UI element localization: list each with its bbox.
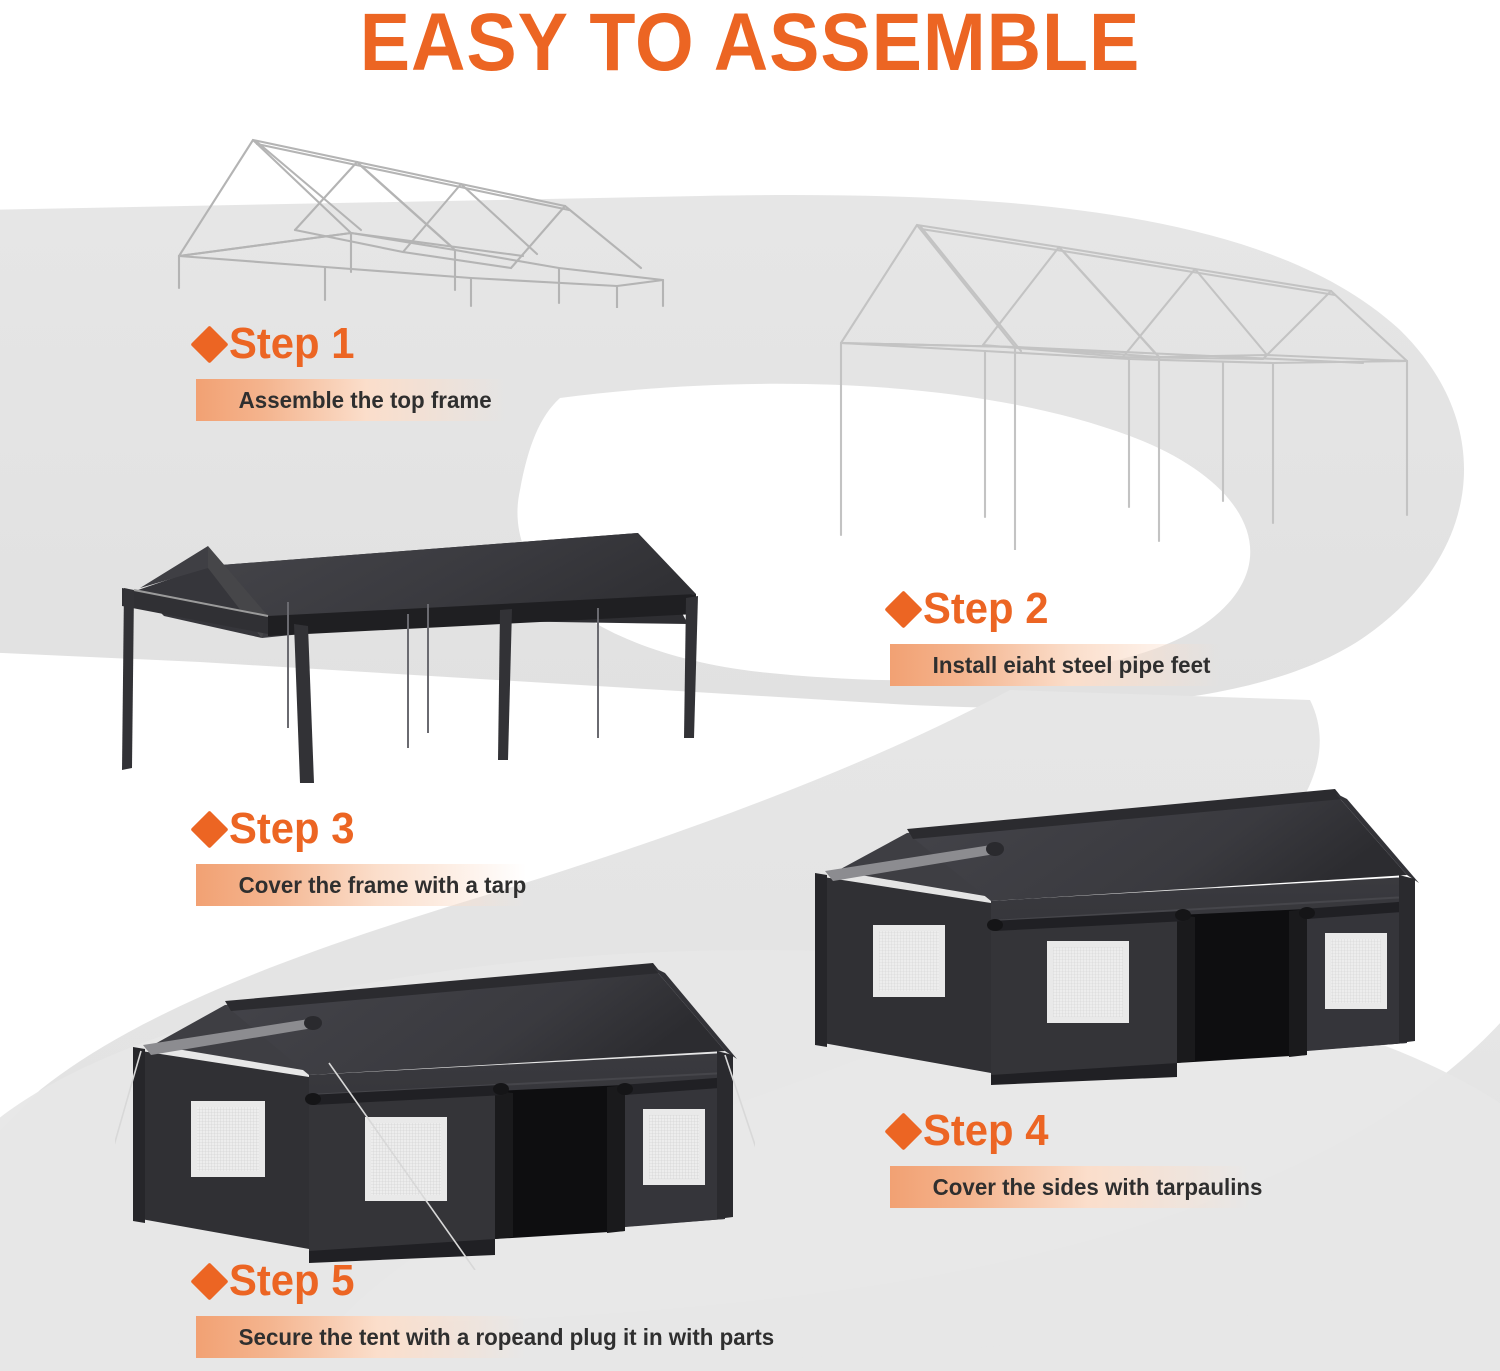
step-5-description-row: Secure the tent with a ropeand plug it i… xyxy=(196,1316,792,1358)
garage2-window-mesh-left xyxy=(197,1107,259,1171)
garage-window-mesh-front-2 xyxy=(1331,939,1381,1003)
diamond-bullet-icon xyxy=(884,1112,922,1150)
carport-canopy-icon xyxy=(108,438,738,788)
garage2-door-opening xyxy=(495,1085,625,1239)
canopy-leg-1 xyxy=(122,588,134,770)
infographic-page: EASY TO ASSEMBLE xyxy=(0,0,1500,1371)
garage-door-opening xyxy=(1177,909,1307,1063)
step-3-title: Step 3 xyxy=(229,807,354,851)
step-5-title: Step 5 xyxy=(229,1259,354,1303)
enclosed-garage-with-rope-icon xyxy=(115,905,755,1270)
step-1-block: Step 1 Assemble the top frame xyxy=(196,318,501,421)
garage2-window-mesh-front-2 xyxy=(649,1115,699,1179)
garage-corner-right xyxy=(1399,875,1415,1043)
step-1-description-row: Assemble the top frame xyxy=(196,379,501,421)
garage2-door-jamb-left xyxy=(495,1091,513,1239)
garage-door-bar-cap-l1 xyxy=(987,919,1003,931)
step-1-heading: Step 1 xyxy=(196,318,501,370)
step-4-description: Cover the sides with tarpaulins xyxy=(890,1174,1262,1201)
roof-frame-line-drawing-icon xyxy=(165,128,765,308)
step-4-description-row: Cover the sides with tarpaulins xyxy=(890,1166,1274,1208)
step-3-description: Cover the frame with a tarp xyxy=(196,872,526,899)
step-5-heading: Step 5 xyxy=(196,1255,792,1307)
step-2-description-row: Install eiaht steel pipe feet xyxy=(890,644,1220,686)
full-frame-with-legs-line-drawing-icon xyxy=(815,205,1455,550)
garage2-window-mesh-front-1 xyxy=(371,1123,441,1195)
diamond-bullet-icon xyxy=(190,325,228,363)
garage2-door-bar-cap-l2 xyxy=(493,1083,509,1095)
garage-door-bar-cap-l2 xyxy=(1175,909,1191,921)
step-3-heading: Step 3 xyxy=(196,803,537,855)
step-3-description-row: Cover the frame with a tarp xyxy=(196,864,537,906)
step-5-block: Step 5 Secure the tent with a ropeand pl… xyxy=(196,1255,792,1358)
canopy-leg-2 xyxy=(294,624,314,783)
garage-window-mesh-front-1 xyxy=(1053,947,1123,1017)
garage-rollbar-cap-left xyxy=(986,842,1004,856)
step-2-title: Step 2 xyxy=(923,587,1048,631)
garage-door-jamb-left xyxy=(1177,915,1195,1063)
diamond-bullet-icon xyxy=(190,1262,228,1300)
step-4-block: Step 4 Cover the sides with tarpaulins xyxy=(890,1105,1274,1208)
step-1-description: Assemble the top frame xyxy=(196,387,492,414)
step-2-description: Install eiaht steel pipe feet xyxy=(890,652,1210,679)
diamond-bullet-icon xyxy=(884,590,922,628)
step-2-block: Step 2 Install eiaht steel pipe feet xyxy=(890,583,1220,686)
step-1-title: Step 1 xyxy=(229,322,354,366)
garage-window-mesh-left xyxy=(879,931,939,991)
step-3-block: Step 3 Cover the frame with a tarp xyxy=(196,803,537,906)
garage2-rollbar-cap-left xyxy=(304,1016,322,1030)
step-4-heading: Step 4 xyxy=(890,1105,1274,1157)
enclosed-garage-icon xyxy=(795,725,1435,1085)
page-title: EASY TO ASSEMBLE xyxy=(60,0,1440,90)
garage-corner-left xyxy=(815,873,827,1047)
diamond-bullet-icon xyxy=(190,810,228,848)
garage2-corner-right xyxy=(717,1051,733,1219)
garage2-door-jamb-right xyxy=(607,1085,625,1233)
step-5-description: Secure the tent with a ropeand plug it i… xyxy=(196,1324,774,1351)
canopy-leg-4 xyxy=(684,596,698,738)
canopy-leg-3 xyxy=(498,609,512,760)
step-4-title: Step 4 xyxy=(923,1109,1048,1153)
step-2-heading: Step 2 xyxy=(890,583,1220,635)
garage2-door-bar-cap-r1 xyxy=(617,1083,633,1095)
garage2-door-bar-cap-l1 xyxy=(305,1093,321,1105)
garage-door-jamb-right xyxy=(1289,909,1307,1057)
garage-door-bar-cap-r1 xyxy=(1299,907,1315,919)
